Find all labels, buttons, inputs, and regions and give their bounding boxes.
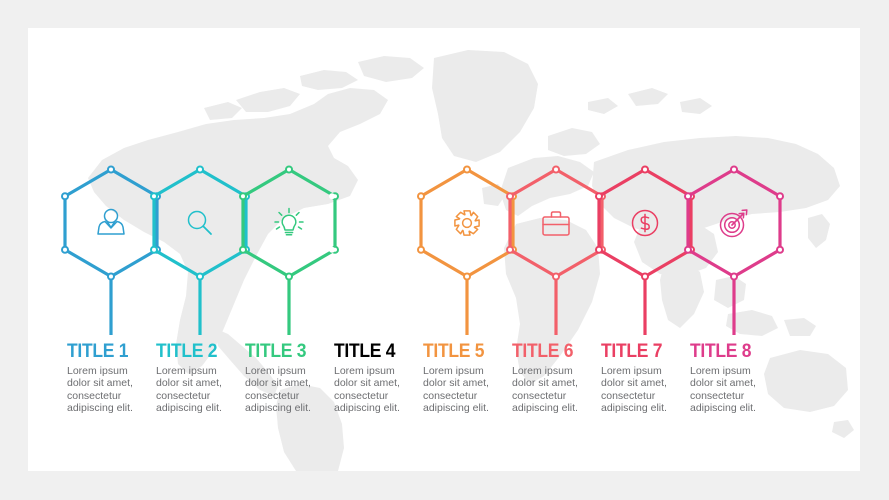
- caption-title-6: TITLE 6: [512, 341, 594, 363]
- caption-body-6: Lorem ipsum dolor sit amet, consectetur …: [512, 365, 596, 415]
- caption-title-2: TITLE 2: [156, 341, 238, 363]
- caption-title-7: TITLE 7: [601, 341, 683, 363]
- screenshot-stage: TITLE 1Lorem ipsum dolor sit amet, conse…: [0, 0, 889, 500]
- caption-title-5: TITLE 5: [423, 341, 505, 363]
- caption-title-4: TITLE 4: [334, 341, 416, 363]
- caption-body-1: Lorem ipsum dolor sit amet, consectetur …: [67, 365, 151, 415]
- caption-block-2[interactable]: TITLE 2Lorem ipsum dolor sit amet, conse…: [156, 341, 245, 415]
- caption-body-8: Lorem ipsum dolor sit amet, consectetur …: [690, 365, 774, 415]
- caption-block-4[interactable]: TITLE 4Lorem ipsum dolor sit amet, conse…: [334, 341, 423, 415]
- caption-body-4: Lorem ipsum dolor sit amet, consectetur …: [334, 365, 418, 415]
- caption-body-5: Lorem ipsum dolor sit amet, consectetur …: [423, 365, 507, 415]
- caption-title-8: TITLE 8: [690, 341, 772, 363]
- caption-body-2: Lorem ipsum dolor sit amet, consectetur …: [156, 365, 240, 415]
- caption-block-8[interactable]: TITLE 8Lorem ipsum dolor sit amet, conse…: [690, 341, 779, 415]
- caption-block-6[interactable]: TITLE 6Lorem ipsum dolor sit amet, conse…: [512, 341, 601, 415]
- caption-body-7: Lorem ipsum dolor sit amet, consectetur …: [601, 365, 685, 415]
- caption-body-3: Lorem ipsum dolor sit amet, consectetur …: [245, 365, 329, 415]
- caption-block-1[interactable]: TITLE 1Lorem ipsum dolor sit amet, conse…: [67, 341, 156, 415]
- caption-block-3[interactable]: TITLE 3Lorem ipsum dolor sit amet, conse…: [245, 341, 334, 415]
- caption-block-7[interactable]: TITLE 7Lorem ipsum dolor sit amet, conse…: [601, 341, 690, 415]
- caption-row: TITLE 1Lorem ipsum dolor sit amet, conse…: [28, 28, 860, 471]
- caption-title-3: TITLE 3: [245, 341, 327, 363]
- caption-block-5[interactable]: TITLE 5Lorem ipsum dolor sit amet, conse…: [423, 341, 512, 415]
- caption-title-1: TITLE 1: [67, 341, 149, 363]
- infographic-slide: TITLE 1Lorem ipsum dolor sit amet, conse…: [28, 28, 860, 471]
